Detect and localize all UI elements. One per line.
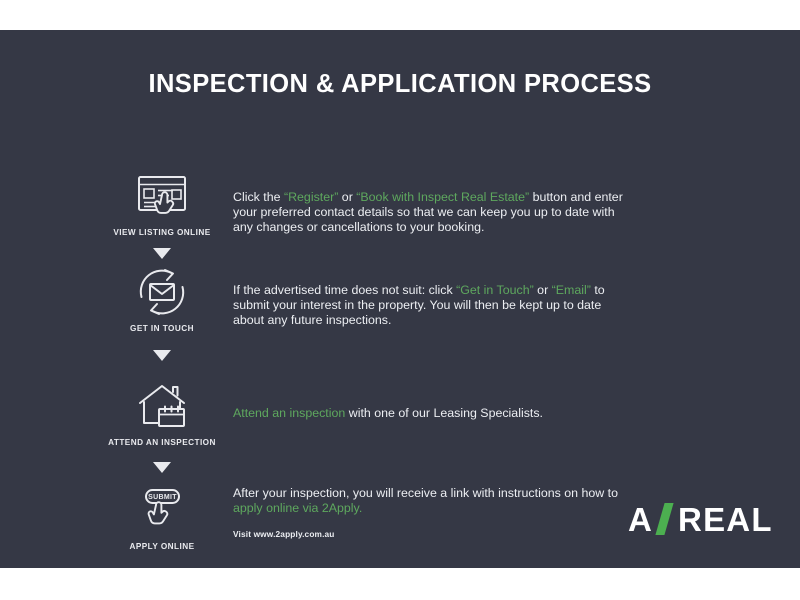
brand-logo: A REAL — [628, 498, 773, 540]
step-2-label: GET IN TOUCH — [97, 324, 227, 333]
step-1-segment-3: “Book with Inspect Real Estate” — [356, 190, 529, 204]
submit-button-cursor-icon: SUBMIT — [97, 482, 227, 538]
step-2-icon-column: GET IN TOUCH — [97, 264, 227, 333]
connector-1-down-triangle-icon — [97, 248, 227, 259]
step-3-body-text: Attend an inspection with one of our Lea… — [233, 406, 633, 421]
connector-2-down-triangle-icon — [97, 350, 227, 361]
down-triangle-icon — [153, 462, 171, 473]
envelope-refresh-icon — [97, 264, 227, 320]
step-3-segment-1: with one of our Leasing Specialists. — [345, 406, 543, 420]
house-calendar-icon — [97, 378, 227, 434]
step-4-body-text: After your inspection, you will receive … — [233, 486, 633, 543]
step-1-body-text: Click the “Register” or “Book with Inspe… — [233, 190, 633, 236]
green-slash-icon — [655, 503, 673, 535]
step-3-icon-column: ATTEND AN INSPECTION — [97, 378, 227, 447]
slide-panel: INSPECTION & APPLICATION PROCESS — [0, 30, 800, 568]
step-1-segment-2: or — [338, 190, 356, 204]
step-2-segment-0: If the advertised time does not suit: cl… — [233, 283, 456, 297]
svg-text:SUBMIT: SUBMIT — [148, 494, 177, 501]
step-4-segment-1: apply online via 2Apply. — [233, 501, 362, 515]
step-1-segment-0: Click the — [233, 190, 284, 204]
step-1-label: VIEW LISTING ONLINE — [97, 228, 227, 237]
down-triangle-icon — [153, 248, 171, 259]
down-triangle-icon — [153, 350, 171, 361]
step-1-icon-column: VIEW LISTING ONLINE — [97, 168, 227, 237]
connector-3-down-triangle-icon — [97, 462, 227, 473]
logo-mark-right: REAL — [678, 503, 773, 536]
step-2-segment-3: “Email” — [552, 283, 591, 297]
step-4-icon-column: SUBMIT APPLY ONLINE — [97, 482, 227, 551]
step-2-body-text: If the advertised time does not suit: cl… — [233, 283, 633, 329]
step-3-label: ATTEND AN INSPECTION — [97, 438, 227, 447]
step-3-segment-0: Attend an inspection — [233, 406, 345, 420]
step-4-label: APPLY ONLINE — [97, 542, 227, 551]
step-2-segment-1: “Get in Touch” — [456, 283, 534, 297]
step-1-segment-1: “Register” — [284, 190, 338, 204]
logo-mark-left: A — [628, 503, 653, 536]
listing-window-cursor-icon — [97, 168, 227, 224]
step-4-footnote: Visit www.2apply.com.au — [233, 527, 633, 542]
step-4-segment-0: After your inspection, you will receive … — [233, 486, 618, 500]
step-2-segment-2: or — [534, 283, 552, 297]
process-steps-list: VIEW LISTING ONLINE Click the “Register”… — [0, 30, 800, 568]
